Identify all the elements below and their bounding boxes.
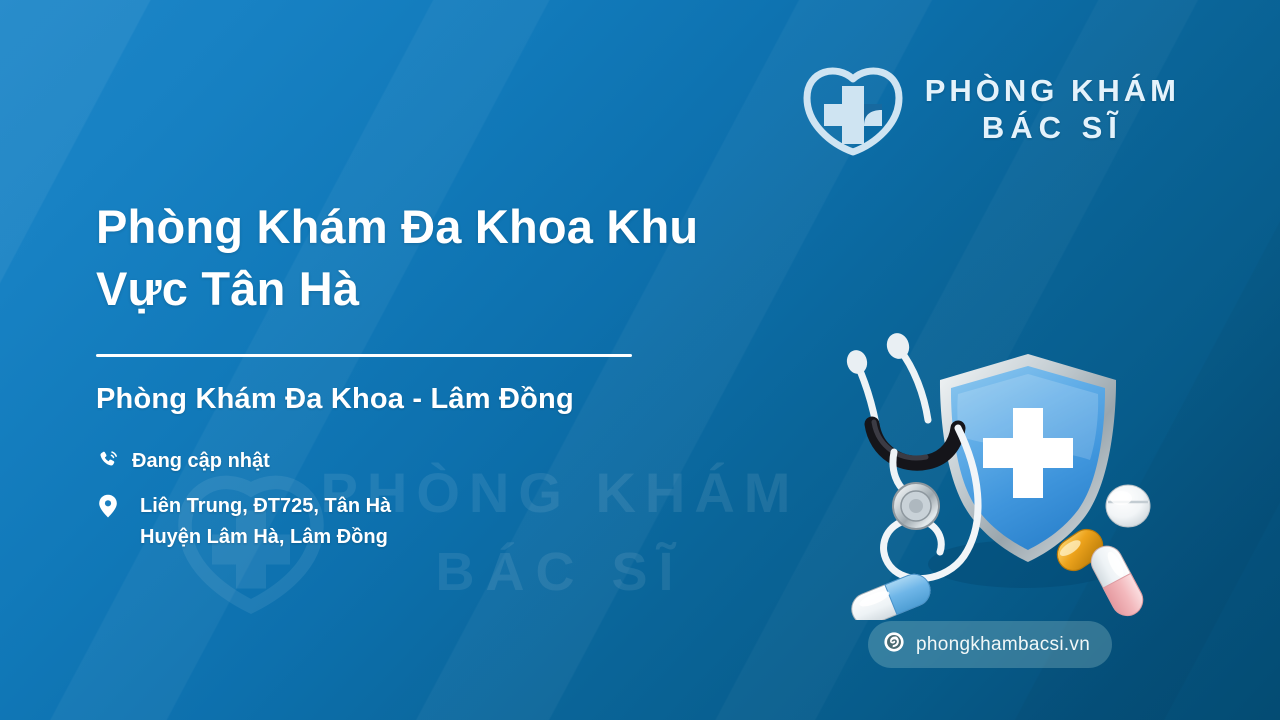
globe-icon (883, 631, 905, 658)
contact-info: Đang cập nhật Liên Trung, ĐT725, Tân Hà … (96, 446, 796, 553)
brand-logo[interactable]: PHÒNG KHÁM BÁC SĨ (797, 62, 1180, 158)
page-title: Phòng Khám Đa Khoa Khu Vực Tân Hà (96, 196, 796, 320)
website-url: phongkhambacsi.vn (916, 634, 1090, 656)
title-divider (96, 354, 632, 357)
page-subtitle: Phòng Khám Đa Khoa - Lâm Đồng (96, 383, 796, 416)
address-row[interactable]: Liên Trung, ĐT725, Tân Hà Huyện Lâm Hà, … (96, 491, 796, 553)
clinic-banner: PHÒNG KHÁM BÁC SĨ PHÒNG KHÁM BÁC SĨ Phòn… (0, 0, 1280, 720)
brand-logo-text: PHÒNG KHÁM BÁC SĨ (925, 73, 1180, 146)
medical-cross-heart-icon (797, 62, 909, 158)
address-line-1: Liên Trung, ĐT725, Tân Hà (140, 495, 391, 517)
address-line-2: Huyện Lâm Hà, Lâm Đồng (140, 526, 388, 548)
address-text: Liên Trung, ĐT725, Tân Hà Huyện Lâm Hà, … (132, 491, 391, 553)
brand-logo-line-1: PHÒNG KHÁM (925, 73, 1180, 110)
website-badge[interactable]: phongkhambacsi.vn (868, 621, 1112, 668)
phone-row[interactable]: Đang cập nhật (96, 446, 796, 477)
phone-label: Đang cập nhật (132, 446, 270, 477)
brand-logo-line-2: BÁC SĨ (925, 110, 1180, 147)
phone-ringing-icon (96, 446, 120, 471)
location-pin-icon (96, 491, 120, 518)
hero-content: Phòng Khám Đa Khoa Khu Vực Tân Hà Phòng … (96, 196, 796, 567)
medical-illustration (828, 328, 1180, 620)
